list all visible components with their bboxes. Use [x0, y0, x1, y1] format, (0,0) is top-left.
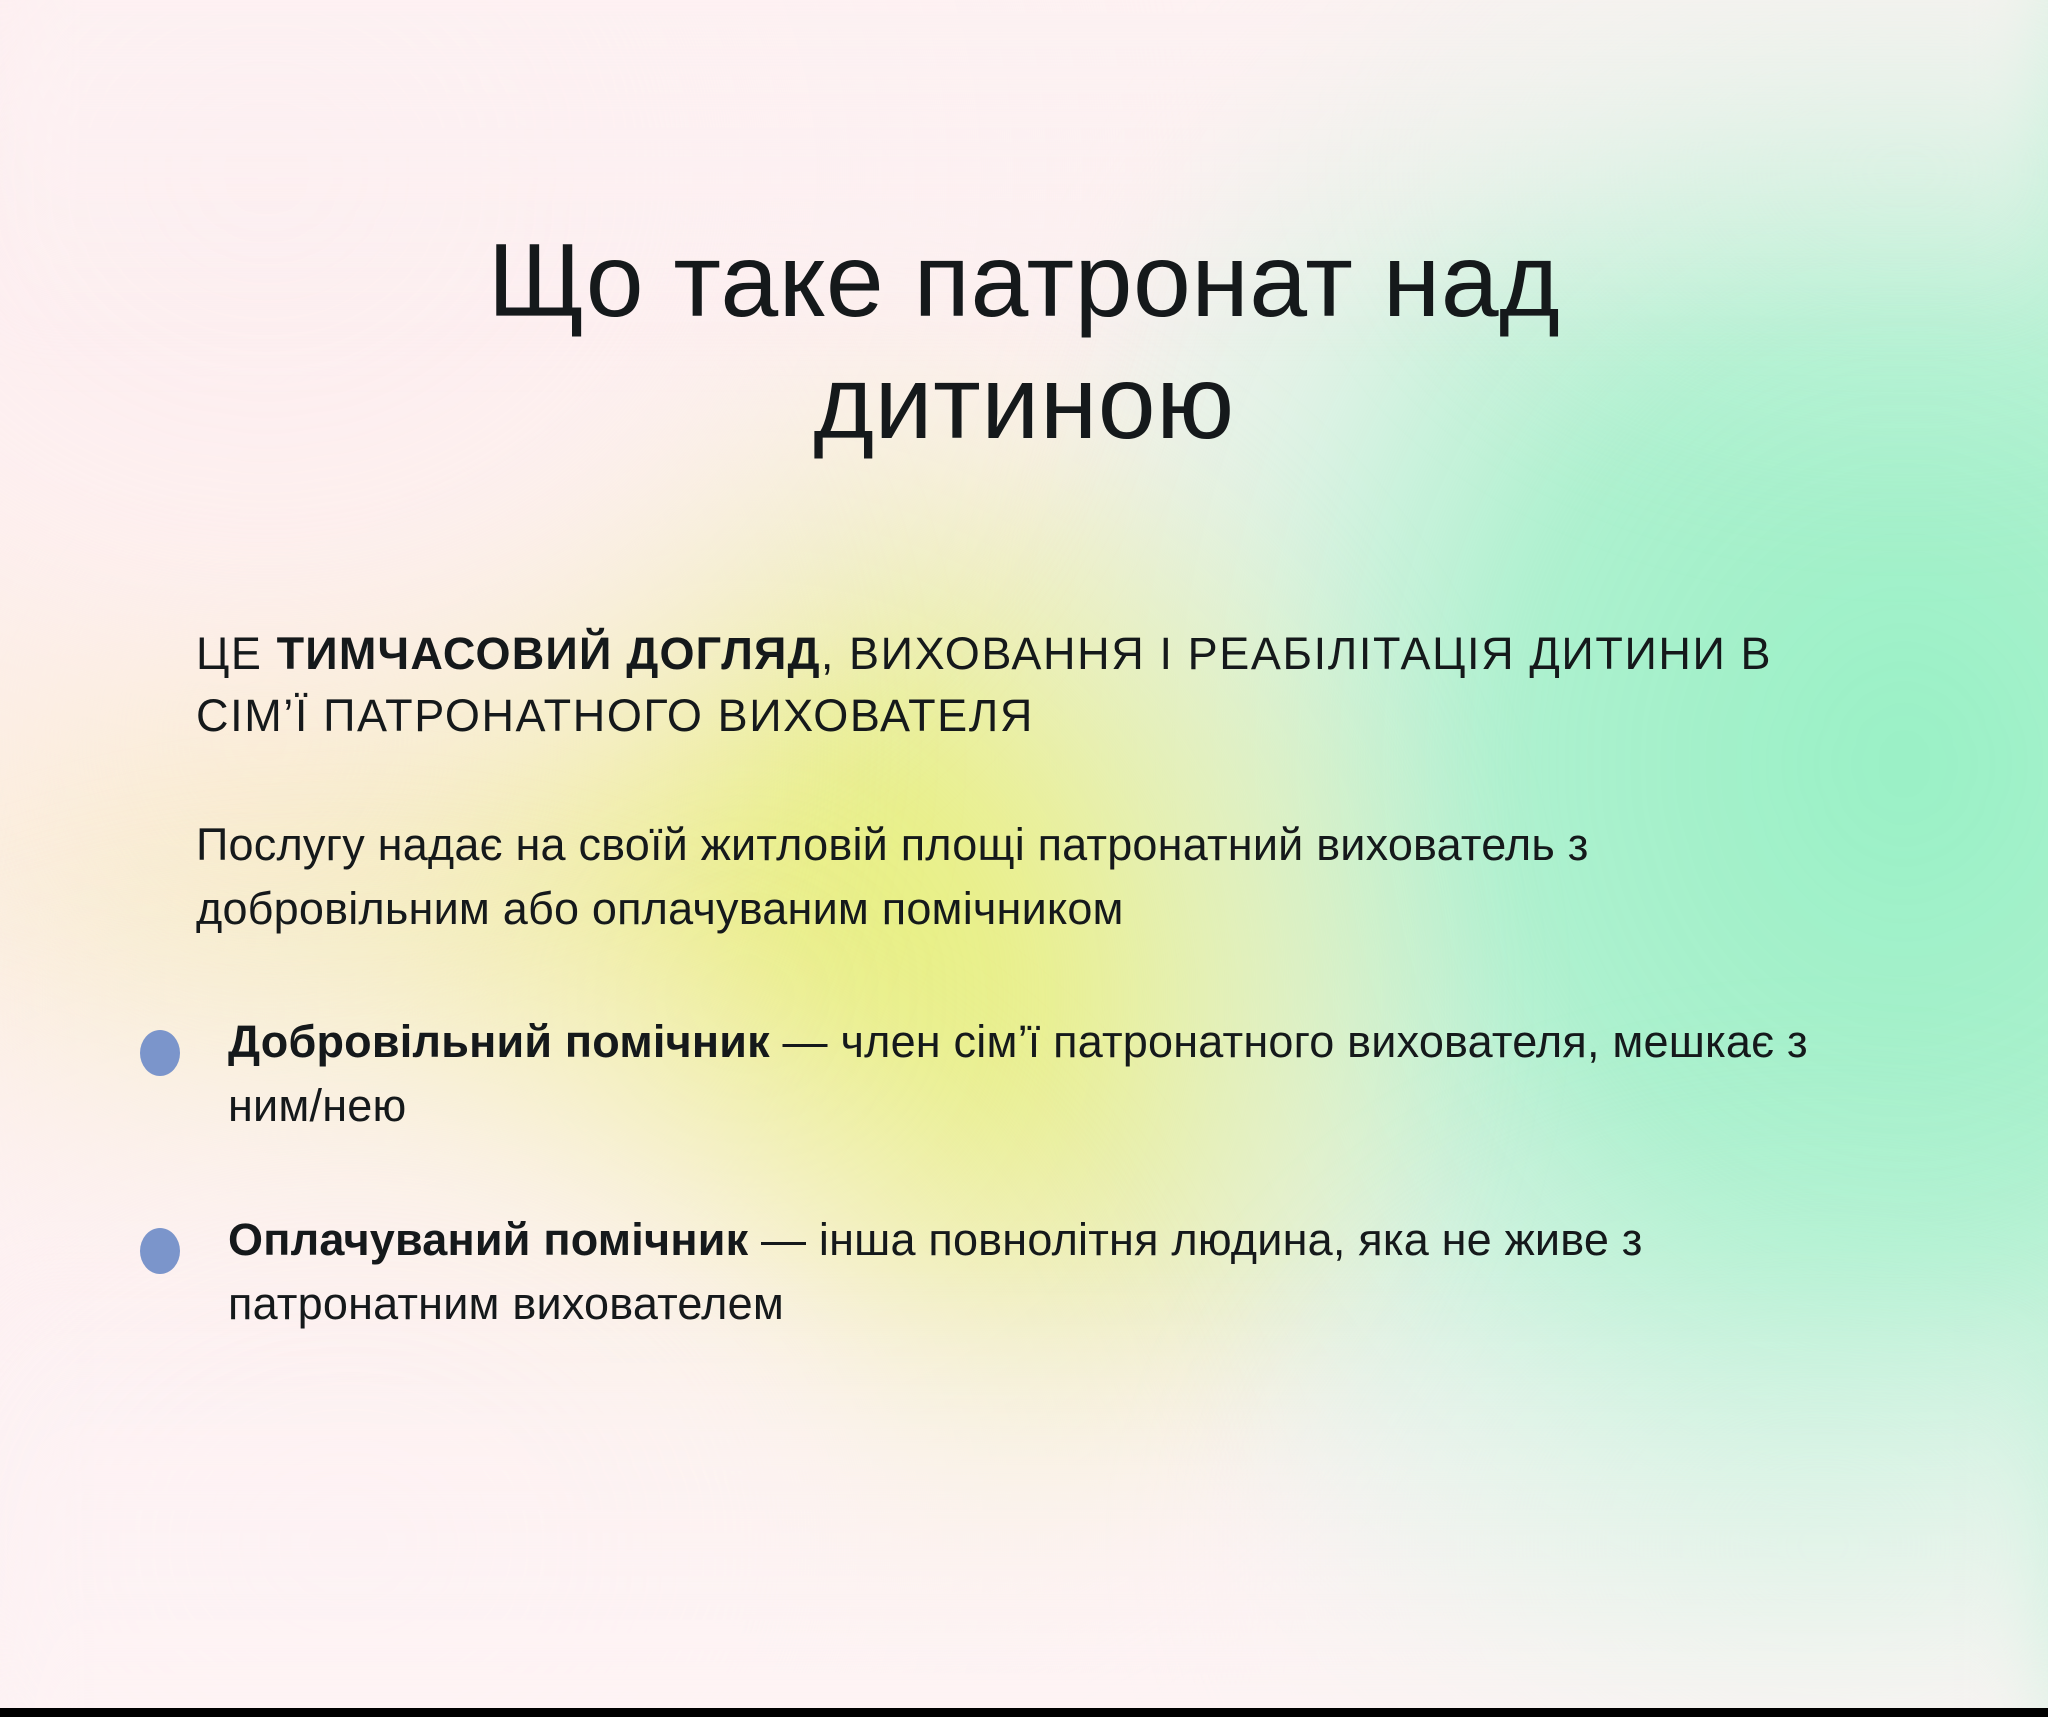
filled-circle-bullet-icon [140, 1030, 180, 1076]
filled-circle-bullet-icon [140, 1228, 180, 1274]
lead-paragraph: Послугу надає на своїй житловій площі па… [196, 813, 1816, 941]
intro-statement: ЦЕ ТИМЧАСОВИЙ ДОГЛЯД, ВИХОВАННЯ І РЕАБІЛ… [196, 623, 1796, 747]
list-item-term: Добровільний помічник [228, 1016, 770, 1067]
intro-emphasis: ТИМЧАСОВИЙ ДОГЛЯД [277, 628, 821, 679]
list-item-term: Оплачуваний помічник [228, 1214, 748, 1265]
list-item-text: Оплачуваний помічник — інша повнолітня л… [228, 1208, 1860, 1336]
definition-list: Добровільний помічник — член сім’ї патро… [140, 1010, 1860, 1406]
slide-content: Що таке патронат над дитиною ЦЕ ТИМЧАСОВ… [0, 0, 2048, 1717]
page-title-line-2: дитиною [813, 345, 1234, 461]
slide-canvas: Що таке патронат над дитиною ЦЕ ТИМЧАСОВ… [0, 0, 2048, 1717]
intro-prefix: ЦЕ [196, 628, 277, 679]
page-title: Що таке патронат над дитиною [314, 220, 1734, 465]
list-item: Добровільний помічник — член сім’ї патро… [140, 1010, 1860, 1138]
list-item: Оплачуваний помічник — інша повнолітня л… [140, 1208, 1860, 1336]
bottom-black-strip [0, 1708, 2048, 1717]
page-title-line-1: Що таке патронат над [488, 223, 1561, 339]
list-item-text: Добровільний помічник — член сім’ї патро… [228, 1010, 1860, 1138]
